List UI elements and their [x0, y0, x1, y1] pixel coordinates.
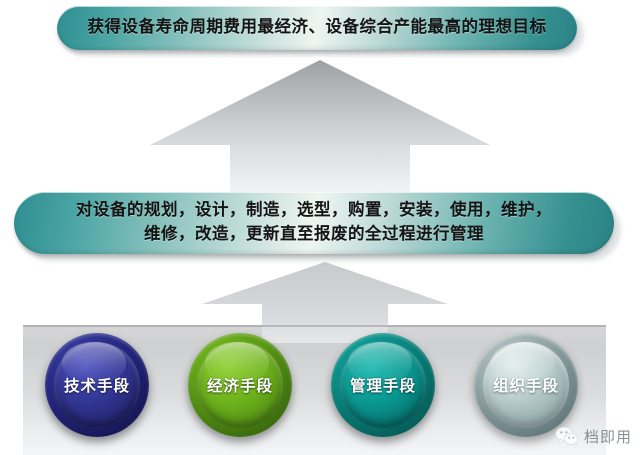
wechat-icon [555, 426, 579, 447]
definition-line-1: 对设备的规划，设计，制造，选型，购置，安装，使用，维护， [76, 201, 552, 219]
method-circle-organizational[interactable]: 组织手段 [474, 333, 578, 437]
method-circle-technical[interactable]: 技术手段 [45, 333, 149, 437]
method-circle-label: 管理手段 [350, 374, 416, 396]
watermark-text: 档即用 [584, 426, 632, 447]
base-platform-edge [23, 325, 606, 327]
big-up-arrow [100, 50, 540, 210]
method-circle-economic[interactable]: 经济手段 [188, 333, 292, 437]
definition-line-2: 维修，改造，更新直至报废的全过程进行管理 [144, 225, 484, 243]
goal-banner-text: 获得设备寿命周期费用最经济、设备综合产能最高的理想目标 [88, 16, 547, 40]
diagram-canvas: 获得设备寿命周期费用最经济、设备综合产能最高的理想目标 对设备的规划，设计，制造… [0, 0, 640, 455]
small-up-arrow [200, 258, 450, 343]
method-circle-management[interactable]: 管理手段 [331, 333, 435, 437]
method-circle-label: 技术手段 [64, 374, 130, 396]
definition-banner: 对设备的规划，设计，制造，选型，购置，安装，使用，维护， 维修，改造，更新直至报… [14, 192, 614, 254]
method-circle-label: 经济手段 [207, 374, 273, 396]
method-circle-label: 组织手段 [493, 374, 559, 396]
goal-banner: 获得设备寿命周期费用最经济、设备综合产能最高的理想目标 [57, 6, 577, 50]
definition-banner-text: 对设备的规划，设计，制造，选型，购置，安装，使用，维护， 维修，改造，更新直至报… [76, 199, 552, 247]
watermark: 档即用 [555, 426, 632, 447]
